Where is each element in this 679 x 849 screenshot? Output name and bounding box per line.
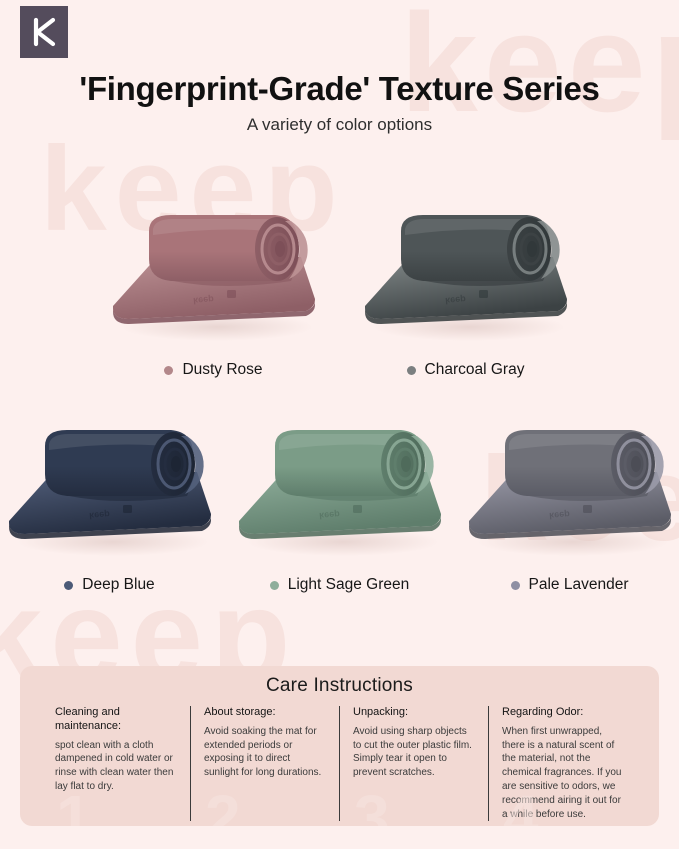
- care-instructions-panel: Care Instructions 1 Cleaning and mainten…: [20, 666, 659, 826]
- product-name: Light Sage Green: [288, 576, 410, 594]
- mat-illustration: keep: [105, 195, 323, 355]
- care-column: 3 Unpacking: Avoid using sharp objects t…: [339, 706, 488, 821]
- product-label: Pale Lavender: [511, 576, 629, 594]
- product-image: keep: [357, 195, 575, 355]
- color-swatch-dot: [164, 366, 173, 375]
- mat-illustration: keep: [461, 410, 679, 570]
- product-image: keep: [461, 410, 679, 570]
- product-name: Deep Blue: [82, 576, 154, 594]
- care-column-title: About storage:: [204, 706, 326, 720]
- color-swatch-dot: [64, 581, 73, 590]
- svg-text:keep: keep: [444, 294, 466, 306]
- color-swatch-dot: [270, 581, 279, 590]
- svg-text:keep: keep: [318, 509, 340, 521]
- product-card[interactable]: keep Deep Blue: [1, 410, 219, 594]
- product-image: keep: [1, 410, 219, 570]
- product-card[interactable]: keep Pale Lavender: [461, 410, 679, 594]
- product-card[interactable]: keep Light Sage Green: [231, 410, 449, 594]
- care-step-number: 2: [205, 781, 241, 826]
- product-label: Charcoal Gray: [407, 361, 525, 379]
- svg-text:keep: keep: [548, 509, 570, 521]
- care-column-title: Unpacking:: [353, 706, 475, 720]
- mat-illustration: keep: [231, 410, 449, 570]
- keep-k-logo-icon: [29, 16, 59, 48]
- care-column-body: Avoid using sharp objects to cut the out…: [353, 725, 475, 780]
- care-column-body: Avoid soaking the mat for extended perio…: [204, 725, 326, 780]
- product-image: keep: [105, 195, 323, 355]
- care-heading: Care Instructions: [20, 666, 659, 697]
- product-name: Dusty Rose: [182, 361, 262, 379]
- product-label: Deep Blue: [64, 576, 154, 594]
- care-column-title: Cleaning and maintenance:: [55, 706, 177, 734]
- svg-text:keep: keep: [192, 294, 214, 306]
- mat-illustration: keep: [1, 410, 219, 570]
- care-column: 4 Regarding Odor: When first unwrapped, …: [488, 706, 637, 821]
- care-step-number: 3: [354, 781, 390, 826]
- care-column-body: When first unwrapped, there is a natural…: [502, 725, 624, 822]
- product-label: Dusty Rose: [164, 361, 262, 379]
- care-column-body: spot clean with a cloth dampened in cold…: [55, 739, 177, 794]
- product-image: keep: [231, 410, 449, 570]
- product-row-top: keep Dusty Rose: [0, 195, 679, 379]
- color-swatch-dot: [511, 581, 520, 590]
- brand-logo: [20, 6, 68, 58]
- care-column: 1 Cleaning and maintenance: spot clean w…: [42, 706, 190, 821]
- product-card[interactable]: keep Dusty Rose: [105, 195, 323, 379]
- mat-illustration: keep: [357, 195, 575, 355]
- product-row-bottom: keep Deep Blue: [0, 410, 679, 594]
- product-label: Light Sage Green: [270, 576, 410, 594]
- product-name: Pale Lavender: [529, 576, 629, 594]
- page-title: 'Fingerprint-Grade' Texture Series: [0, 70, 679, 108]
- color-swatch-dot: [407, 366, 416, 375]
- product-card[interactable]: keep Charcoal Gray: [357, 195, 575, 379]
- product-name: Charcoal Gray: [425, 361, 525, 379]
- care-column: 2 About storage: Avoid soaking the mat f…: [190, 706, 339, 821]
- svg-text:keep: keep: [88, 509, 110, 521]
- care-column-title: Regarding Odor:: [502, 706, 624, 720]
- page-subtitle: A variety of color options: [0, 115, 679, 135]
- care-columns: 1 Cleaning and maintenance: spot clean w…: [20, 697, 659, 821]
